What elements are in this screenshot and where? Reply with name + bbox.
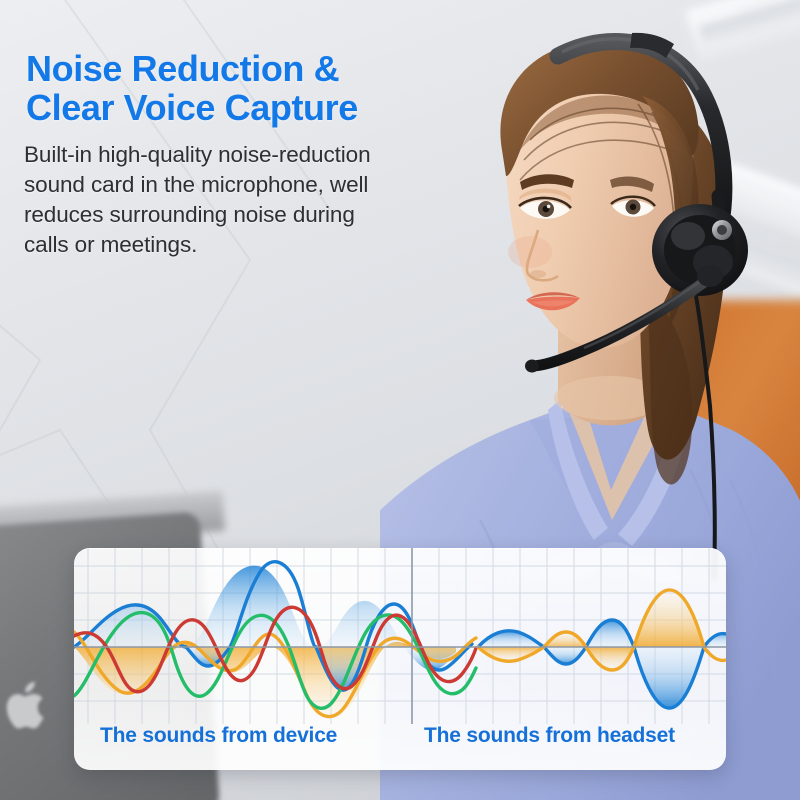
waveform-comparison-panel: The sounds from device The sounds from h… bbox=[74, 548, 726, 770]
caption-device: The sounds from device bbox=[100, 724, 337, 748]
body-line-4: calls or meetings. bbox=[24, 230, 444, 260]
wave-orange-device-fill bbox=[74, 642, 456, 719]
panel-captions: The sounds from device The sounds from h… bbox=[74, 724, 726, 770]
body-line-1: Built-in high-quality noise-reduction bbox=[24, 140, 444, 170]
apple-logo-icon bbox=[5, 680, 51, 732]
body-line-3: reduces surrounding noise during bbox=[24, 200, 444, 230]
body-line-2: sound card in the microphone, well bbox=[24, 170, 444, 200]
description-text: Built-in high-quality noise-reduction so… bbox=[24, 140, 444, 260]
marketing-image: Noise Reduction & Clear Voice Capture Bu… bbox=[0, 0, 800, 800]
waveform-device bbox=[74, 562, 476, 719]
waveform-chart bbox=[74, 548, 726, 724]
caption-headset: The sounds from headset bbox=[424, 724, 675, 748]
headline-line-1: Noise Reduction & bbox=[26, 48, 339, 89]
waveform-headset bbox=[478, 590, 726, 708]
page-title: Noise Reduction & Clear Voice Capture bbox=[26, 50, 456, 127]
headline-line-2: Clear Voice Capture bbox=[26, 89, 456, 128]
